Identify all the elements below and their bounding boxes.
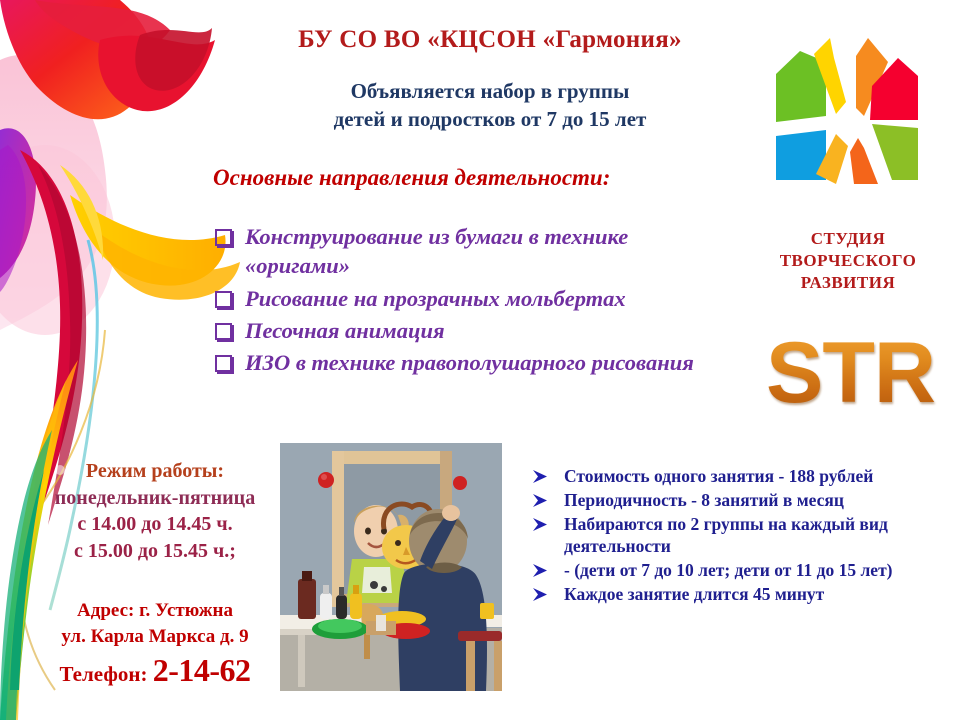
list-item: Песочная анимация	[213, 316, 733, 345]
detail-label: Периодичность - 8 занятий в месяц	[564, 490, 844, 510]
list-item: - (дети от 7 до 10 лет; дети от 11 до 15…	[528, 559, 946, 582]
address-line-2: ул. Карла Маркса д. 9	[24, 624, 286, 650]
phone-block: Телефон: 2-14-62	[24, 652, 286, 689]
square-bullet-icon	[215, 229, 232, 246]
working-days: понедельник-пятница	[24, 485, 286, 512]
chevron-right-bullet-icon	[532, 517, 550, 532]
poster-root: БУ СО ВО «КЦСОН «Гармония» Объявляется н…	[0, 0, 960, 720]
announcement-subtitle: Объявляется набор в группы детей и подро…	[230, 78, 750, 133]
working-hours-block: Режим работы: понедельник-пятница с 14.0…	[24, 458, 286, 564]
direction-label: Конструирование из бумаги в технике «ори…	[245, 224, 628, 278]
phone-label: Телефон:	[59, 662, 147, 686]
directions-heading: Основные направления деятельности:	[213, 165, 733, 191]
list-item: ИЗО в технике правополушарного рисования	[213, 348, 733, 377]
chevron-right-bullet-icon	[532, 493, 550, 508]
working-hours-title: Режим работы:	[24, 458, 286, 485]
chevron-right-bullet-icon	[532, 469, 550, 484]
address-line-1: Адрес: г. Устюжна	[24, 598, 286, 624]
details-list: Стоимость одного занятия - 188 рублей Пе…	[528, 465, 946, 607]
list-item: Набираются по 2 группы на каждый вид дея…	[528, 513, 946, 559]
working-time-slot-2: с 15.00 до 15.45 ч.;	[24, 538, 286, 565]
directions-list: Конструирование из бумаги в технике «ори…	[213, 222, 733, 380]
announcement-line-1: Объявляется набор в группы	[230, 78, 750, 106]
detail-label: - (дети от 7 до 10 лет; дети от 11 до 15…	[564, 560, 893, 580]
list-item: Рисование на прозрачных мольбертах	[213, 284, 733, 313]
detail-label: Набираются по 2 группы на каждый вид дея…	[564, 514, 888, 557]
list-item: Стоимость одного занятия - 188 рублей	[528, 465, 946, 488]
direction-label: Рисование на прозрачных мольбертах	[245, 286, 626, 311]
detail-label: Стоимость одного занятия - 188 рублей	[564, 466, 873, 486]
phone-number: 2-14-62	[153, 652, 251, 688]
direction-label: Песочная анимация	[245, 318, 445, 343]
list-item: Каждое занятие длится 45 минут	[528, 583, 946, 606]
str-acronym-logo: STR	[748, 330, 953, 416]
square-bullet-icon	[215, 355, 232, 372]
studio-line-3: РАЗВИТИЯ	[748, 272, 948, 294]
list-item: Конструирование из бумаги в технике «ори…	[213, 222, 733, 281]
organization-title: БУ СО ВО «КЦСОН «Гармония»	[230, 26, 750, 54]
eight-petal-starburst-icon	[768, 24, 933, 184]
studio-line-1: СТУДИЯ	[748, 228, 948, 250]
square-bullet-icon	[215, 291, 232, 308]
square-bullet-icon	[215, 323, 232, 340]
address-block: Адрес: г. Устюжна ул. Карла Маркса д. 9	[24, 598, 286, 649]
direction-label: ИЗО в технике правополушарного рисования	[245, 350, 694, 375]
list-item: Периодичность - 8 занятий в месяц	[528, 489, 946, 512]
detail-label: Каждое занятие длится 45 минут	[564, 584, 824, 604]
working-time-slot-1: с 14.00 до 14.45 ч.	[24, 511, 286, 538]
chevron-right-bullet-icon	[532, 587, 550, 602]
chevron-right-bullet-icon	[532, 563, 550, 578]
studio-line-2: ТВОРЧЕСКОГО	[748, 250, 948, 272]
activity-photo	[280, 443, 502, 691]
studio-label: СТУДИЯ ТВОРЧЕСКОГО РАЗВИТИЯ	[748, 228, 948, 294]
announcement-line-2: детей и подростков от 7 до 15 лет	[230, 106, 750, 134]
